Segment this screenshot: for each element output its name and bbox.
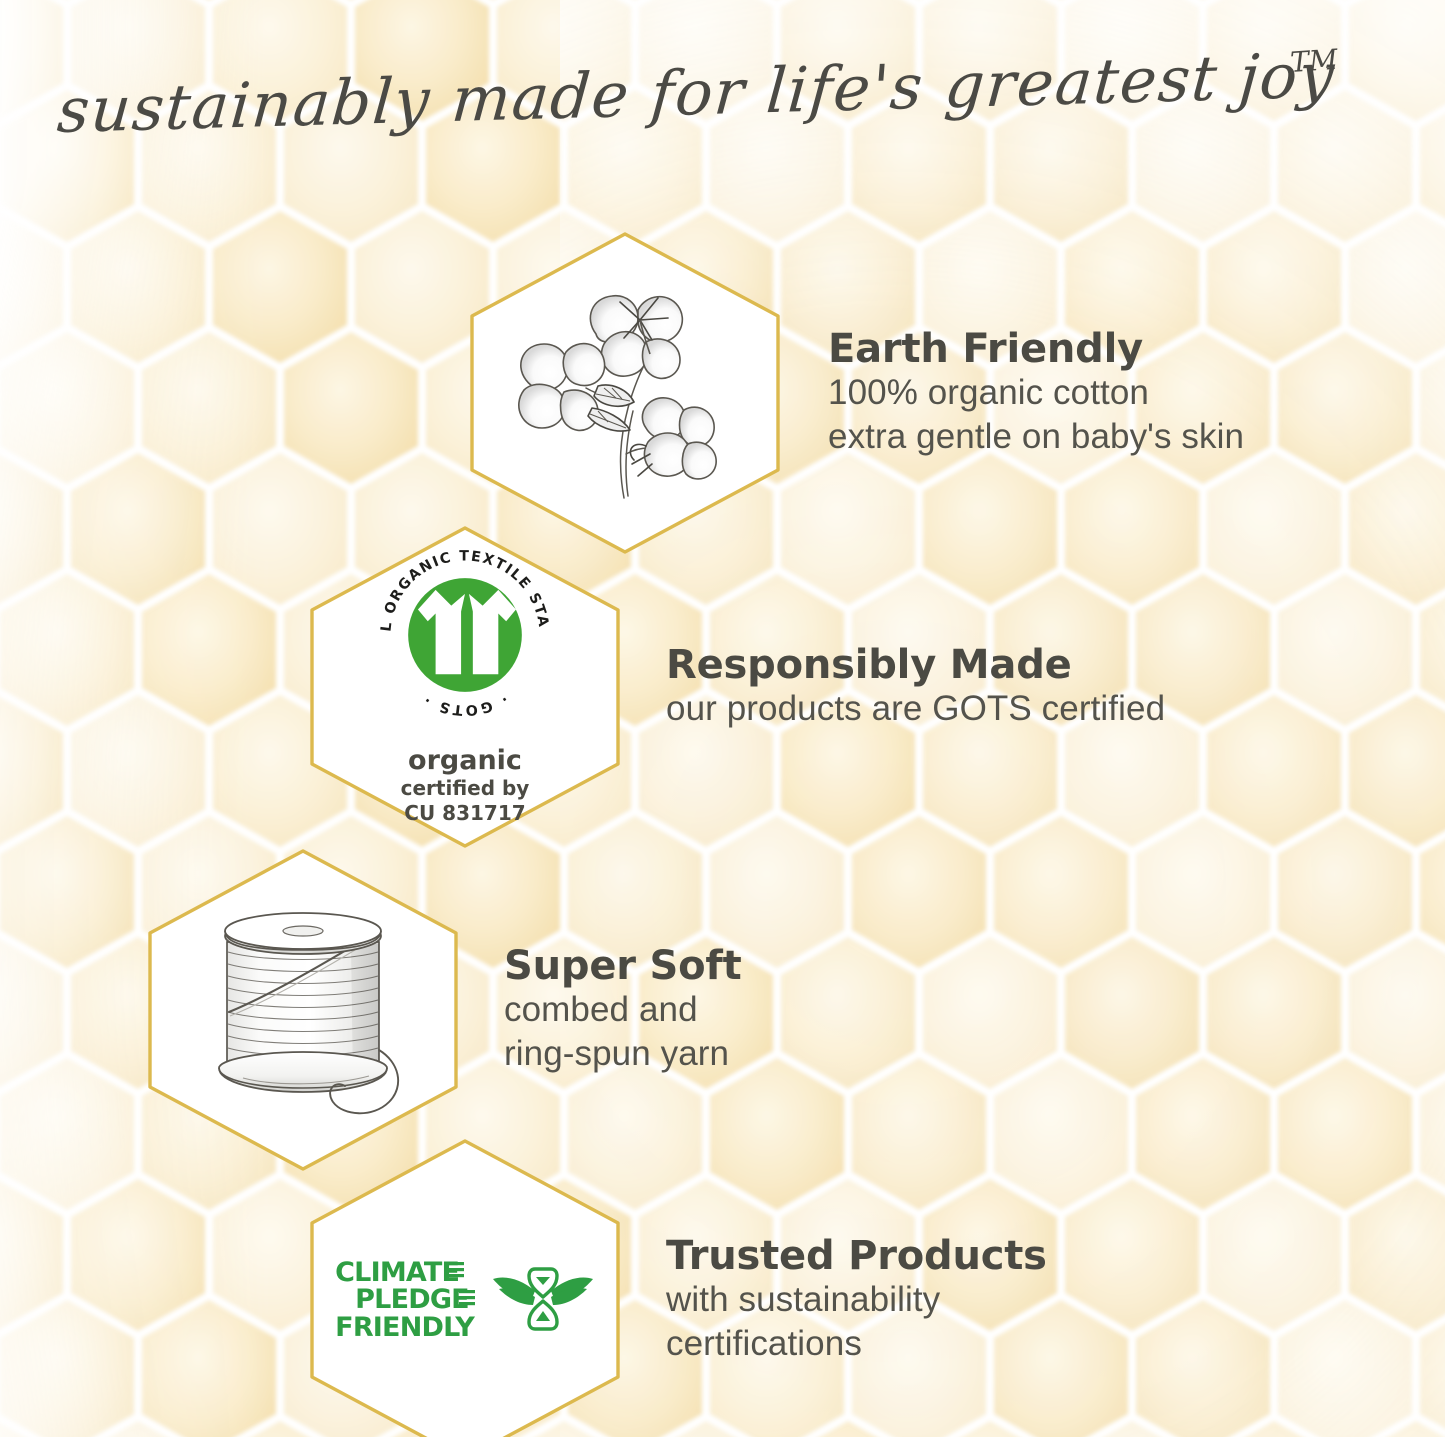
feature-desc-line: combed and [504,988,1138,1032]
headline-banner: sustainably made for life's greatest joy… [0,36,1445,151]
svg-text:· GOTS ·: · GOTS · [420,690,511,718]
headline-trademark-icon: TM [1289,43,1340,79]
feature-desc-line: our products are GOTS certified [666,687,1420,731]
infographic-canvas: sustainably made for life's greatest joy… [0,0,1445,1437]
hex-card-trusted-products[interactable]: CLIMATE PLEDGE [300,1135,630,1437]
feature-text-trusted-products: Trusted Products with sustainability cer… [662,1234,1360,1367]
thread-spool-sketch-icon [183,890,423,1130]
feature-responsibly-made: GLOBAL ORGANIC TEXTILE STANDARD · GOTS · [300,522,1420,852]
gots-ring-text-bottom: · GOTS · [420,690,511,718]
cpf-line-2: PLEDGE [355,1286,469,1314]
cpf-line-1: CLIMATE [335,1259,459,1287]
feature-trusted-products: CLIMATE PLEDGE [300,1135,1360,1437]
gots-organic-label: organic [408,745,522,776]
feature-super-soft: Super Soft combed and ring-spun yarn [138,845,1138,1175]
feature-desc-line: with sustainability [666,1278,1360,1322]
cpf-line-3: FRIENDLY [335,1314,474,1342]
cpf-bars-icon [448,1260,464,1284]
gots-green-disc [408,578,522,692]
gots-organic-certification-icon: GLOBAL ORGANIC TEXTILE STANDARD · GOTS · [367,537,563,826]
hex-card-super-soft[interactable] [138,845,468,1175]
gots-certified-by: certified by [401,776,530,801]
hex-icon-slot: GLOBAL ORGANIC TEXTILE STANDARD · GOTS · [300,522,630,852]
feature-desc-line: 100% organic cotton [828,371,1420,415]
feature-text-super-soft: Super Soft combed and ring-spun yarn [500,944,1138,1077]
feature-text-earth-friendly: Earth Friendly 100% organic cotton extra… [824,327,1420,460]
feature-desc-line: extra gentle on baby's skin [828,415,1420,459]
feature-title: Trusted Products [666,1234,1360,1279]
cpf-bars-icon [459,1288,475,1312]
feature-title: Super Soft [504,944,1138,989]
climate-pledge-friendly-icon: CLIMATE PLEDGE [335,1257,595,1343]
feature-desc-line: ring-spun yarn [504,1032,1138,1076]
winged-hourglass-icon [491,1257,595,1343]
hex-card-earth-friendly[interactable] [460,228,790,558]
feature-title: Responsibly Made [666,643,1420,688]
hex-icon-slot: CLIMATE PLEDGE [300,1135,630,1437]
cotton-branch-sketch-icon [500,268,750,518]
feature-earth-friendly: Earth Friendly 100% organic cotton extra… [460,228,1420,558]
feature-desc-line: certifications [666,1322,1360,1366]
cpf-wordmark: CLIMATE PLEDGE [335,1259,475,1342]
hex-icon-slot [460,228,790,558]
feature-text-responsibly-made: Responsibly Made our products are GOTS c… [662,643,1420,732]
hex-icon-slot [138,845,468,1175]
gots-certificate-id: CU 831717 [404,801,525,826]
hex-card-responsibly-made[interactable]: GLOBAL ORGANIC TEXTILE STANDARD · GOTS · [300,522,630,852]
feature-title: Earth Friendly [828,327,1420,372]
headline-text: sustainably made for life's greatest joy [54,38,1337,147]
